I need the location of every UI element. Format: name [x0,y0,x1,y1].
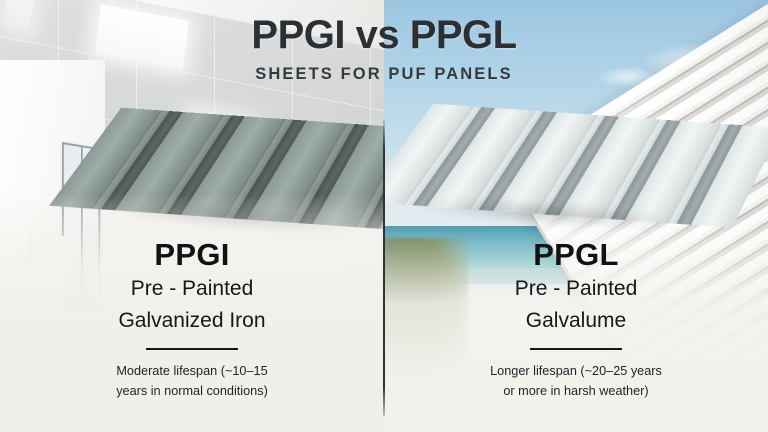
column-desc-line2: Galvanized Iron [0,307,384,335]
column-name: PPGI [0,238,384,271]
column-desc-line2: Galvalume [384,307,768,335]
column-rule [530,348,622,350]
column-desc-line1: Pre - Painted [0,275,384,303]
column-ppgi: PPGI Pre - Painted Galvanized Iron Moder… [0,238,384,401]
column-note-line2: or more in harsh weather) [384,382,768,402]
ppgl-metal-sheet [416,104,684,225]
column-name: PPGL [384,238,768,271]
column-rule [146,348,238,350]
column-ppgl: PPGL Pre - Painted Galvalume Longer life… [384,238,768,401]
page-subtitle: SHEETS FOR PUF PANELS [0,65,768,84]
column-note-line1: Moderate lifespan (~10–15 [0,362,384,382]
column-note-line2: years in normal conditions) [0,382,384,402]
column-desc-line1: Pre - Painted [384,275,768,303]
column-note-line1: Longer lifespan (~20–25 years [384,362,768,382]
page-title: PPGI vs PPGL [0,14,768,56]
header: PPGI vs PPGL SHEETS FOR PUF PANELS [0,14,768,84]
infographic-canvas: PPGI vs PPGL SHEETS FOR PUF PANELS PPGI … [0,0,768,432]
